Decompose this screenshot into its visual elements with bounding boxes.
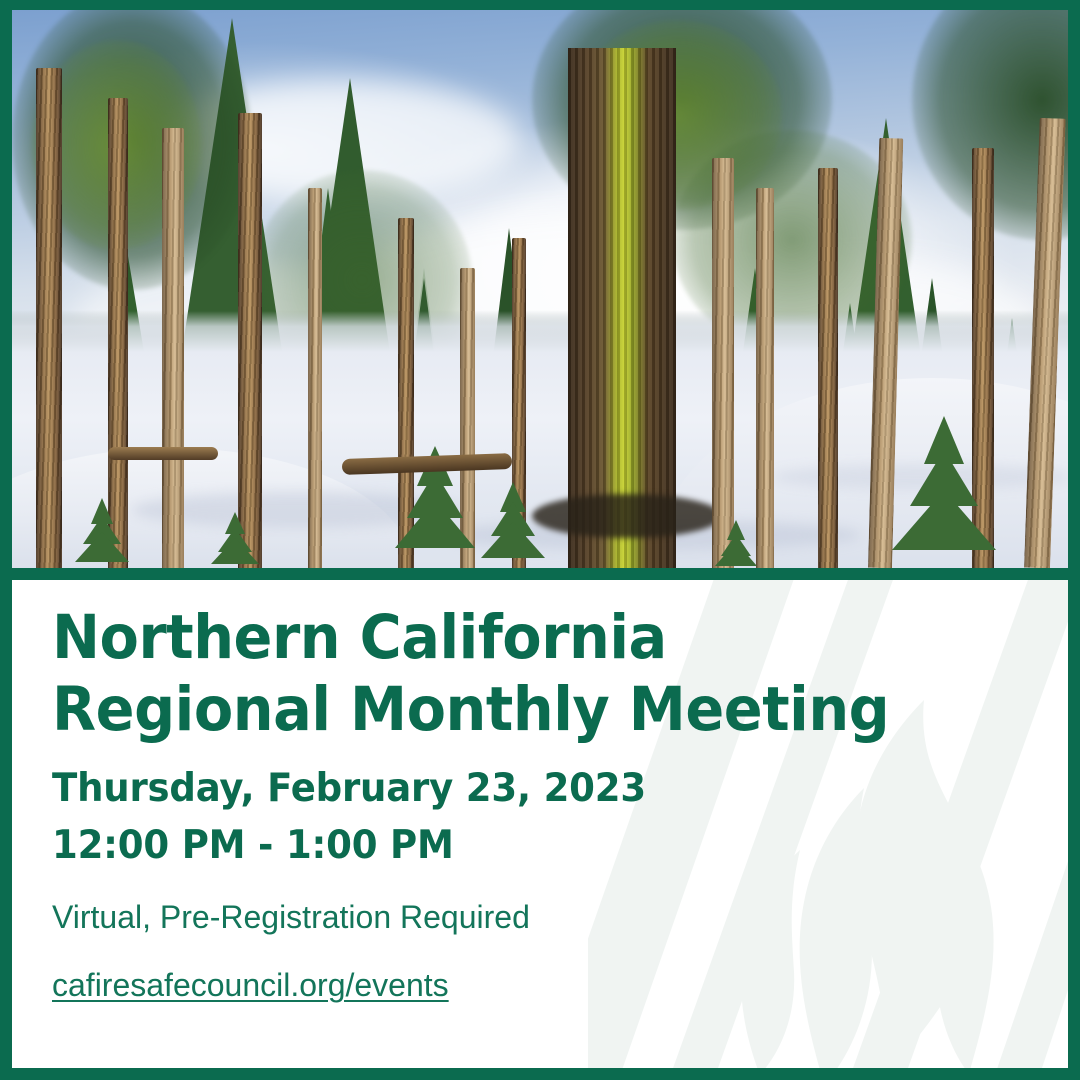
page-title: Northern California Regional Monthly Mee… (52, 602, 969, 746)
photo-canvas (12, 10, 1068, 568)
trunk-hero-mossy (568, 48, 676, 568)
log-stump (108, 447, 218, 460)
event-registration-link[interactable]: cafiresafecouncil.org/events (52, 965, 449, 1007)
trunk-mid-1 (308, 188, 322, 568)
trunk-right-1 (712, 158, 734, 568)
sapling-4 (72, 496, 132, 562)
content-panel: Northern California Regional Monthly Mee… (12, 580, 1068, 1080)
event-flyer: Northern California Regional Monthly Mee… (0, 0, 1080, 1080)
event-date: Thursday, February 23, 2023 (52, 764, 979, 815)
sapling-5 (208, 508, 262, 564)
event-location: Virtual, Pre-Registration Required (52, 897, 1028, 939)
trunk-left-3 (162, 128, 184, 568)
trunk-right-3 (818, 168, 838, 568)
trunk-left-4 (238, 113, 262, 568)
trunk-right-2 (756, 188, 774, 568)
trunk-left-1 (36, 68, 62, 568)
sapling-6 (712, 516, 760, 566)
forest-photo (12, 10, 1068, 580)
event-time: 12:00 PM - 1:00 PM (52, 821, 979, 872)
event-text-block: Northern California Regional Monthly Mee… (52, 602, 1028, 1007)
trunk-hero-base-shadow (532, 494, 722, 538)
sapling-2 (478, 480, 548, 560)
sapling-3 (884, 414, 1004, 564)
